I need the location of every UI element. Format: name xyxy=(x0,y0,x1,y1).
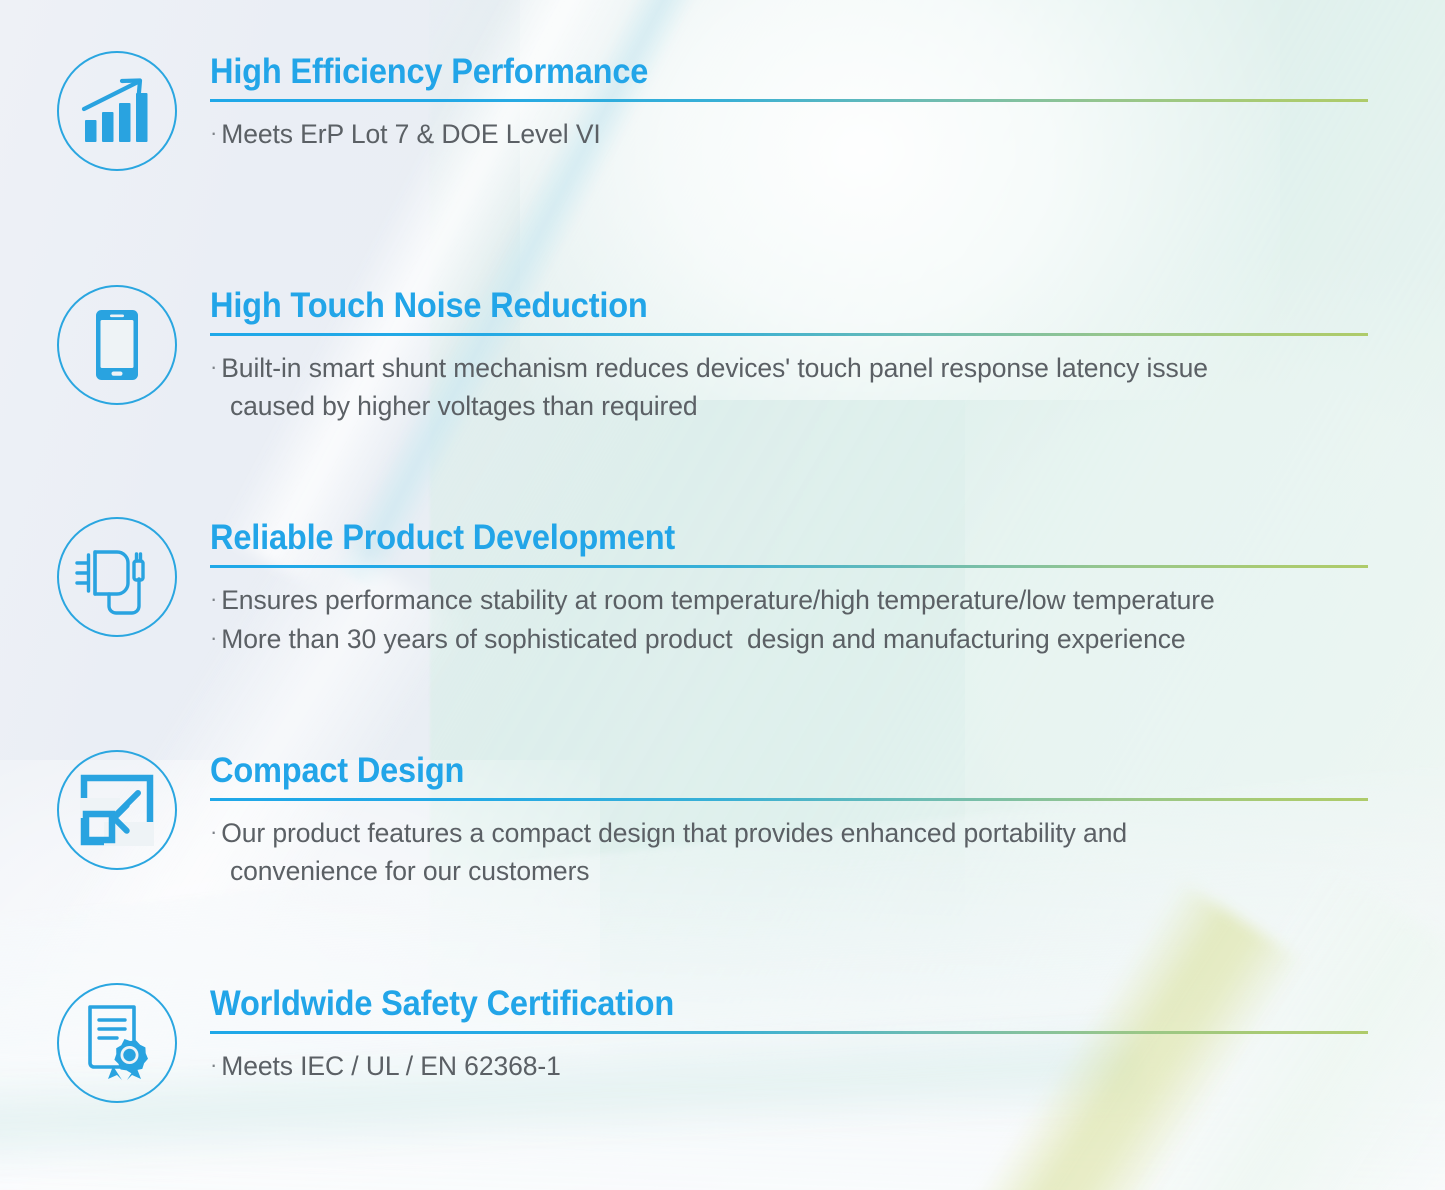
feature-bullet: ·Ensures performance stability at room t… xyxy=(210,580,1380,619)
feature-text: High Touch Noise Reduction·Built-in smar… xyxy=(210,284,1380,425)
feature-bullet-text: Our product features a compact design th… xyxy=(221,818,1127,848)
feature-title: Compact Design xyxy=(210,749,1298,793)
feature-bullet-text: convenience for our customers xyxy=(230,856,589,886)
feature-bullet-text: Ensures performance stability at room te… xyxy=(221,585,1214,615)
bullet-marker-icon: · xyxy=(210,120,221,145)
feature-divider xyxy=(210,798,1368,801)
feature-bullet-text: caused by higher voltages than required xyxy=(230,391,698,421)
feature-bullet: ·Built-in smart shunt mechanism reduces … xyxy=(210,348,1380,387)
feature-text: Worldwide Safety Certification·Meets IEC… xyxy=(210,982,1380,1085)
bullet-marker-icon: · xyxy=(210,1052,221,1077)
feature-title: High Efficiency Performance xyxy=(210,50,1298,94)
feature-icon-badge xyxy=(57,983,177,1103)
feature-bullet-text: Meets IEC / UL / EN 62368-1 xyxy=(221,1051,561,1081)
bar-chart-growth-icon xyxy=(57,51,177,171)
feature-bullet-continuation: caused by higher voltages than required xyxy=(210,387,1380,425)
feature-text: Reliable Product Development·Ensures per… xyxy=(210,516,1380,658)
power-adapter-icon xyxy=(57,517,177,637)
feature-bullet-list: ·Built-in smart shunt mechanism reduces … xyxy=(210,348,1380,425)
feature-bullet-list: ·Our product features a compact design t… xyxy=(210,813,1380,890)
feature-title: High Touch Noise Reduction xyxy=(210,284,1298,328)
compact-resize-icon xyxy=(57,750,177,870)
feature-bullet-continuation: convenience for our customers xyxy=(210,852,1380,890)
feature-title: Reliable Product Development xyxy=(210,516,1298,560)
feature-bullet: ·Meets ErP Lot 7 & DOE Level VI xyxy=(210,114,1380,153)
feature-title: Worldwide Safety Certification xyxy=(210,982,1298,1026)
bullet-marker-icon: · xyxy=(210,625,221,650)
feature-text: Compact Design·Our product features a co… xyxy=(210,749,1380,890)
bullet-marker-icon: · xyxy=(210,819,221,844)
feature-divider xyxy=(210,99,1368,102)
feature-bullet: ·More than 30 years of sophisticated pro… xyxy=(210,619,1380,658)
bullet-marker-icon: · xyxy=(210,586,221,611)
feature-bullet-text: Built-in smart shunt mechanism reduces d… xyxy=(221,353,1208,383)
feature-bullet-text: Meets ErP Lot 7 & DOE Level VI xyxy=(221,119,600,149)
feature-bullet-list: ·Meets IEC / UL / EN 62368-1 xyxy=(210,1046,1380,1085)
feature-icon-badge xyxy=(57,750,177,870)
feature-divider xyxy=(210,1031,1368,1034)
smartphone-icon xyxy=(57,285,177,405)
feature-divider xyxy=(210,333,1368,336)
feature-icon-badge xyxy=(57,517,177,637)
feature-slide: High Efficiency Performance·Meets ErP Lo… xyxy=(0,0,1445,1190)
feature-bullet: ·Our product features a compact design t… xyxy=(210,813,1380,852)
feature-icon-badge xyxy=(57,51,177,171)
bullet-marker-icon: · xyxy=(210,354,221,379)
certificate-seal-icon xyxy=(57,983,177,1103)
feature-bullet: ·Meets IEC / UL / EN 62368-1 xyxy=(210,1046,1380,1085)
feature-divider xyxy=(210,565,1368,568)
feature-bullet-list: ·Ensures performance stability at room t… xyxy=(210,580,1380,658)
feature-bullet-text: More than 30 years of sophisticated prod… xyxy=(221,624,1185,654)
feature-icon-badge xyxy=(57,285,177,405)
feature-text: High Efficiency Performance·Meets ErP Lo… xyxy=(210,50,1380,153)
feature-bullet-list: ·Meets ErP Lot 7 & DOE Level VI xyxy=(210,114,1380,153)
